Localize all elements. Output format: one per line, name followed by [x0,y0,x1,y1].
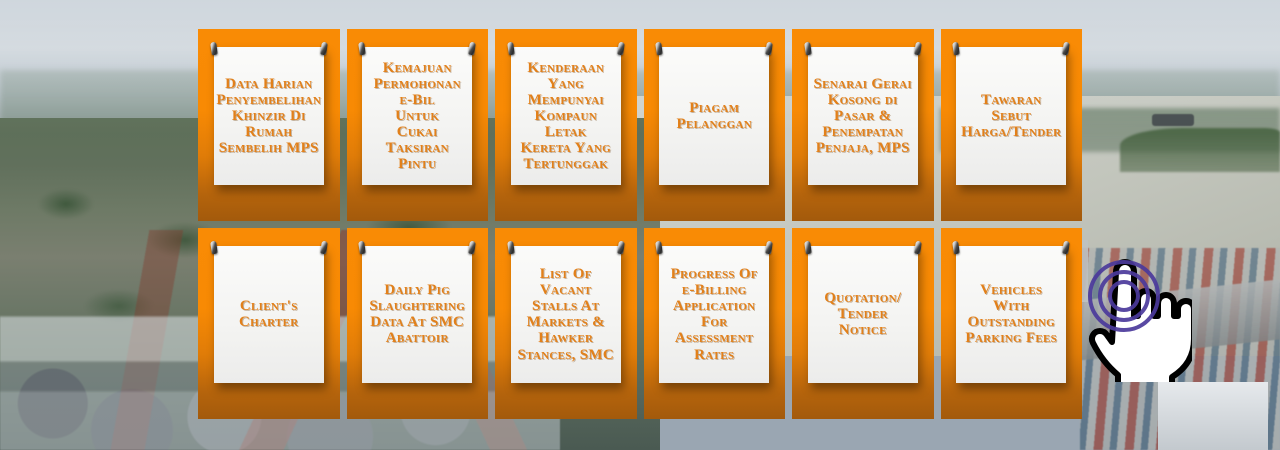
pin-clip-icon [655,240,663,254]
tile-card[interactable]: Daily Pig Slaughtering Data At SMC Abatt… [362,246,472,384]
service-tile-kemajuan-permohonan-ebil[interactable]: Kemajuan Permohonan e-Bil Untuk Cukai Ta… [347,29,489,221]
tile-label: Tawaran Sebut Harga/Tender [961,92,1061,140]
pin-clip-icon [358,42,366,56]
tile-label: Senarai Gerai Kosong di Pasar & Penempat… [813,76,912,156]
pin-clip-icon [655,42,663,56]
tile-card[interactable]: Kemajuan Permohonan e-Bil Untuk Cukai Ta… [362,47,472,185]
tile-label: Piagam Pelanggan [677,100,752,132]
tile-card[interactable]: Quotation/ Tender Notice [808,246,918,384]
pin-clip-icon [507,42,515,56]
tile-card[interactable]: Data Harian Penyembelihan Khinzir Di Rum… [214,47,324,185]
service-tile-senarai-gerai-kosong[interactable]: Senarai Gerai Kosong di Pasar & Penempat… [792,29,934,221]
pin-clip-icon [469,240,477,254]
tile-label: Data Harian Penyembelihan Khinzir Di Rum… [216,76,321,156]
service-tile-progress-of-ebilling[interactable]: Progress Of e-Billing Application For As… [644,228,786,420]
service-tile-grid: Data Harian Penyembelihan Khinzir Di Rum… [198,29,1082,419]
tile-label: Progress Of e-Billing Application For As… [671,266,758,362]
pin-clip-icon [320,42,328,56]
pin-clip-icon [766,240,774,254]
service-tile-list-of-vacant-stalls[interactable]: List Of Vacant Stalls At Markets & Hawke… [495,228,637,420]
page-stage: Data Harian Penyembelihan Khinzir Di Rum… [0,0,1280,450]
tile-label: Daily Pig Slaughtering Data At SMC Abatt… [369,282,465,346]
pin-clip-icon [617,42,625,56]
pin-clip-icon [1063,240,1071,254]
service-tile-daily-pig-slaughtering-data[interactable]: Daily Pig Slaughtering Data At SMC Abatt… [347,228,489,420]
service-tile-kenderaan-kompaun-letak-kereta[interactable]: Kenderaan Yang Mempunyai Kompaun Letak K… [495,29,637,221]
tile-label: Client's Charter [239,298,299,330]
pin-clip-icon [804,240,812,254]
pin-clip-icon [914,240,922,254]
service-tile-piagam-pelanggan[interactable]: Piagam Pelanggan [644,29,786,221]
service-tile-clients-charter[interactable]: Client's Charter [198,228,340,420]
pin-clip-icon [617,240,625,254]
service-tile-vehicles-outstanding-parking-fees[interactable]: Vehicles With Outstanding Parking Fees [941,228,1083,420]
tile-card[interactable]: Vehicles With Outstanding Parking Fees [956,246,1066,384]
pin-clip-icon [210,240,218,254]
tile-label: Vehicles With Outstanding Parking Fees [961,282,1061,346]
pin-clip-icon [320,240,328,254]
tile-card[interactable]: Progress Of e-Billing Application For As… [659,246,769,384]
service-tile-tawaran-sebut-harga-tender[interactable]: Tawaran Sebut Harga/Tender [941,29,1083,221]
pin-clip-icon [358,240,366,254]
service-tile-data-harian-penyembelihan[interactable]: Data Harian Penyembelihan Khinzir Di Rum… [198,29,340,221]
tile-card[interactable]: Piagam Pelanggan [659,47,769,185]
pin-clip-icon [210,42,218,56]
pin-clip-icon [1063,42,1071,56]
service-tile-quotation-tender-notice[interactable]: Quotation/ Tender Notice [792,228,934,420]
tile-card[interactable]: List Of Vacant Stalls At Markets & Hawke… [511,246,621,384]
pin-clip-icon [507,240,515,254]
tile-label: Kemajuan Permohonan e-Bil Untuk Cukai Ta… [374,60,461,172]
tile-card[interactable]: Tawaran Sebut Harga/Tender [956,47,1066,185]
pin-clip-icon [952,240,960,254]
pin-clip-icon [766,42,774,56]
tile-label: Kenderaan Yang Mempunyai Kompaun Letak K… [516,60,616,172]
tile-label: List Of Vacant Stalls At Markets & Hawke… [516,266,616,362]
pin-clip-icon [952,42,960,56]
pin-clip-icon [804,42,812,56]
tile-card[interactable]: Client's Charter [214,246,324,384]
tile-label: Quotation/ Tender Notice [813,290,913,338]
pin-clip-icon [914,42,922,56]
tile-card[interactable]: Kenderaan Yang Mempunyai Kompaun Letak K… [511,47,621,185]
pin-clip-icon [469,42,477,56]
tile-card[interactable]: Senarai Gerai Kosong di Pasar & Penempat… [808,47,918,185]
